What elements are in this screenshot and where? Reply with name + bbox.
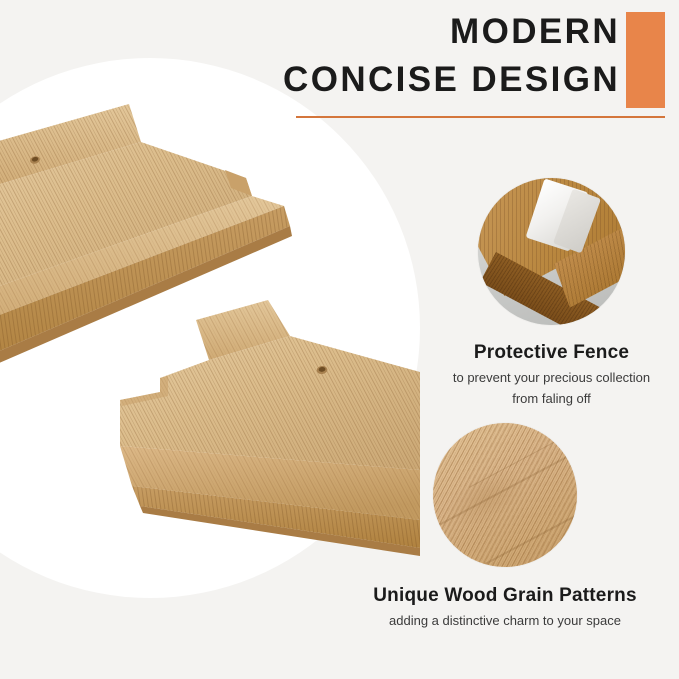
feature-subtitle-wood-grain: adding a distinctive charm to your space — [340, 612, 670, 629]
feature-title-protective-fence: Protective Fence — [404, 341, 679, 365]
feature-subtitle-protective-fence-line-2: from faling off — [404, 390, 679, 407]
orange-accent-bar — [626, 12, 665, 108]
feature-image-protective-fence — [478, 178, 625, 325]
headline-line-1: MODERN — [280, 8, 620, 56]
feature-protective-fence: Protective Fence to prevent your preciou… — [404, 178, 679, 407]
headline-line-2: CONCISE DESIGN — [280, 56, 620, 104]
feature-subtitle-protective-fence-line-1: to prevent your precious collection — [404, 369, 679, 386]
feature-wood-grain: Unique Wood Grain Patterns adding a dist… — [340, 423, 670, 629]
headline-divider-line — [296, 116, 665, 118]
feature-image-wood-grain — [433, 423, 577, 567]
headline-block: MODERN CONCISE DESIGN — [280, 8, 620, 104]
product-marketing-image: MODERN CONCISE DESIGN Protective Fence t… — [0, 0, 679, 679]
feature-title-wood-grain: Unique Wood Grain Patterns — [340, 584, 670, 608]
